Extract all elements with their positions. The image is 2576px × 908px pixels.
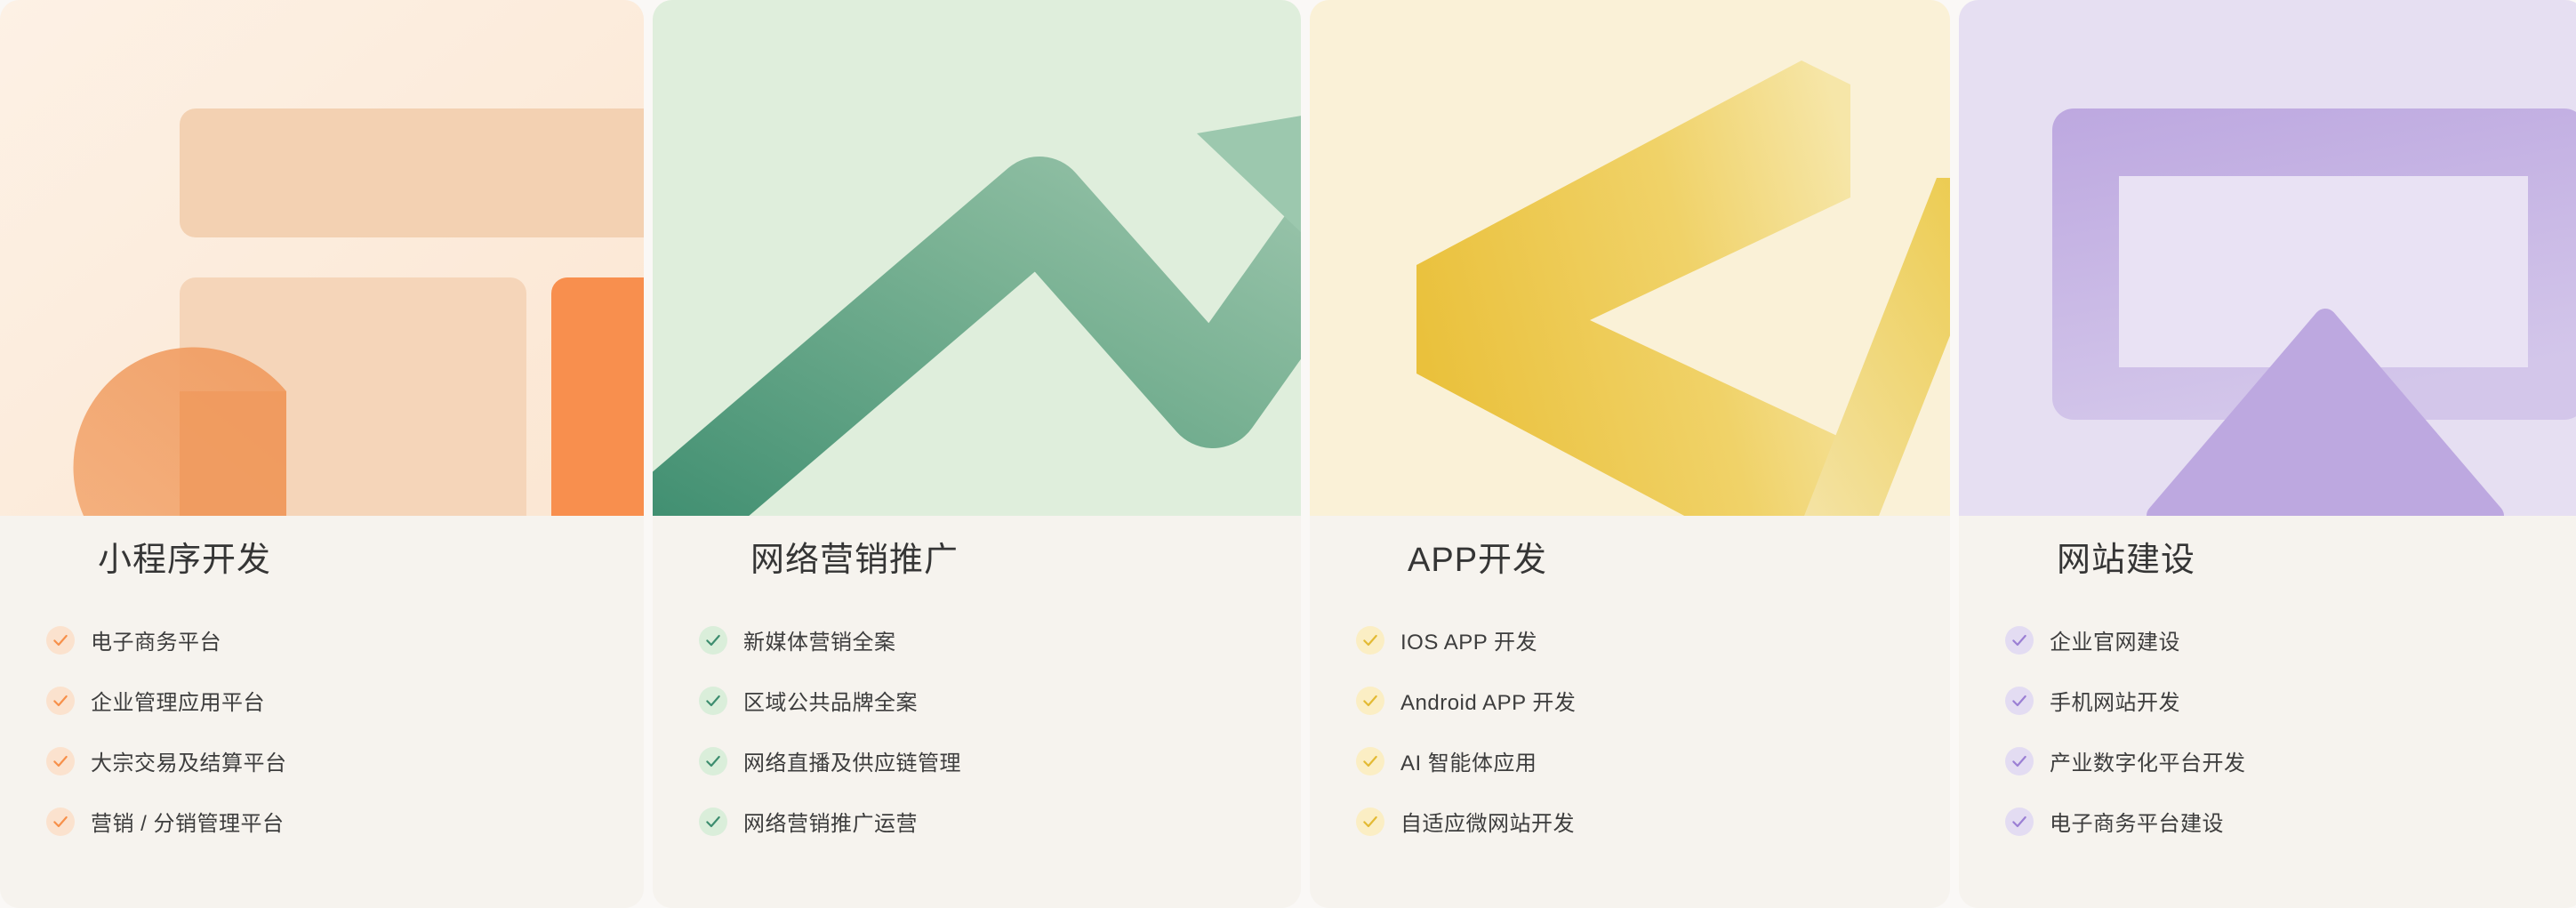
service-card-mini-program[interactable]: 小程序开发 电子商务平台 企业管理应用平台 xyxy=(0,0,644,908)
list-item[interactable]: 企业官网建设 xyxy=(1959,610,2576,671)
list-item[interactable]: 自适应微网站开发 xyxy=(1310,791,1950,852)
trending-up-arrow-illustration xyxy=(653,0,1301,516)
card-hero-mini-program xyxy=(0,0,644,516)
list-item-label: 企业管理应用平台 xyxy=(91,685,265,716)
check-icon xyxy=(2005,687,2034,715)
list-item-label: AI 智能体应用 xyxy=(1400,745,1537,776)
wireframe-layout-illustration xyxy=(0,0,644,516)
list-item-label: 电子商务平台建设 xyxy=(2050,806,2224,837)
list-item[interactable]: 区域公共品牌全案 xyxy=(653,671,1301,731)
check-icon xyxy=(699,747,727,775)
card-title: 网站建设 xyxy=(2057,542,2576,580)
card-body-website-construction: 网站建设 企业官网建设 手机网站开发 xyxy=(1959,516,2576,908)
check-icon xyxy=(1356,808,1384,836)
check-icon xyxy=(2005,747,2034,775)
list-item[interactable]: 手机网站开发 xyxy=(1959,671,2576,731)
service-card-website-construction[interactable]: 网站建设 企业官网建设 手机网站开发 xyxy=(1959,0,2576,908)
list-item[interactable]: Android APP 开发 xyxy=(1310,671,1950,731)
list-item[interactable]: 电子商务平台 xyxy=(0,610,644,671)
list-item-label: 区域公共品牌全案 xyxy=(743,685,918,716)
list-item[interactable]: 网络营销推广运营 xyxy=(653,791,1301,852)
list-item-label: 电子商务平台 xyxy=(91,624,221,655)
check-icon xyxy=(2005,808,2034,836)
check-icon xyxy=(1356,747,1384,775)
list-item-label: 网络营销推广运营 xyxy=(743,806,918,837)
list-item[interactable]: AI 智能体应用 xyxy=(1310,731,1950,791)
feature-list: 企业官网建设 手机网站开发 产业数字化平台开发 xyxy=(1959,610,2576,852)
feature-list: 电子商务平台 企业管理应用平台 大宗交易及结算平台 xyxy=(0,610,644,852)
card-title: 网络营销推广 xyxy=(750,542,1301,580)
check-icon xyxy=(1356,687,1384,715)
list-item-label: 新媒体营销全案 xyxy=(743,624,896,655)
service-card-network-marketing[interactable]: 网络营销推广 新媒体营销全案 区域公共品牌全案 xyxy=(653,0,1301,908)
list-item[interactable]: 新媒体营销全案 xyxy=(653,610,1301,671)
card-hero-app-development xyxy=(1310,0,1950,516)
list-item[interactable]: IOS APP 开发 xyxy=(1310,610,1950,671)
list-item[interactable]: 大宗交易及结算平台 xyxy=(0,731,644,791)
card-body-mini-program: 小程序开发 电子商务平台 企业管理应用平台 xyxy=(0,516,644,908)
list-item[interactable]: 网络直播及供应链管理 xyxy=(653,731,1301,791)
service-card-app-development[interactable]: APP开发 IOS APP 开发 Android APP 开发 xyxy=(1310,0,1950,908)
check-icon xyxy=(699,808,727,836)
check-icon xyxy=(2005,626,2034,655)
list-item-label: 自适应微网站开发 xyxy=(1400,806,1575,837)
list-item-label: 网络直播及供应链管理 xyxy=(743,745,961,776)
card-body-app-development: APP开发 IOS APP 开发 Android APP 开发 xyxy=(1310,516,1950,908)
feature-list: 新媒体营销全案 区域公共品牌全案 网络直播及供应链管理 xyxy=(653,610,1301,852)
list-item-label: Android APP 开发 xyxy=(1400,685,1576,716)
monitor-screen-illustration xyxy=(1959,0,2576,516)
list-item-label: 产业数字化平台开发 xyxy=(2050,745,2246,776)
list-item-label: 营销 / 分销管理平台 xyxy=(91,806,285,837)
list-item-label: IOS APP 开发 xyxy=(1400,624,1537,655)
check-icon xyxy=(46,626,75,655)
card-title: APP开发 xyxy=(1408,542,1950,580)
list-item[interactable]: 电子商务平台建设 xyxy=(1959,791,2576,852)
card-hero-network-marketing xyxy=(653,0,1301,516)
card-body-network-marketing: 网络营销推广 新媒体营销全案 区域公共品牌全案 xyxy=(653,516,1301,908)
list-item-label: 手机网站开发 xyxy=(2050,685,2180,716)
feature-list: IOS APP 开发 Android APP 开发 AI 智能体应用 xyxy=(1310,610,1950,852)
check-icon xyxy=(699,687,727,715)
check-icon xyxy=(46,687,75,715)
check-icon xyxy=(699,626,727,655)
check-icon xyxy=(46,808,75,836)
list-item[interactable]: 企业管理应用平台 xyxy=(0,671,644,731)
check-icon xyxy=(1356,626,1384,655)
card-hero-website-construction xyxy=(1959,0,2576,516)
list-item-label: 大宗交易及结算平台 xyxy=(91,745,287,776)
card-title: 小程序开发 xyxy=(98,542,644,580)
check-icon xyxy=(46,747,75,775)
service-cards-row: 小程序开发 电子商务平台 企业管理应用平台 xyxy=(0,0,2576,908)
list-item[interactable]: 营销 / 分销管理平台 xyxy=(0,791,644,852)
list-item-label: 企业官网建设 xyxy=(2050,624,2180,655)
code-chevron-illustration xyxy=(1310,0,1950,516)
list-item[interactable]: 产业数字化平台开发 xyxy=(1959,731,2576,791)
